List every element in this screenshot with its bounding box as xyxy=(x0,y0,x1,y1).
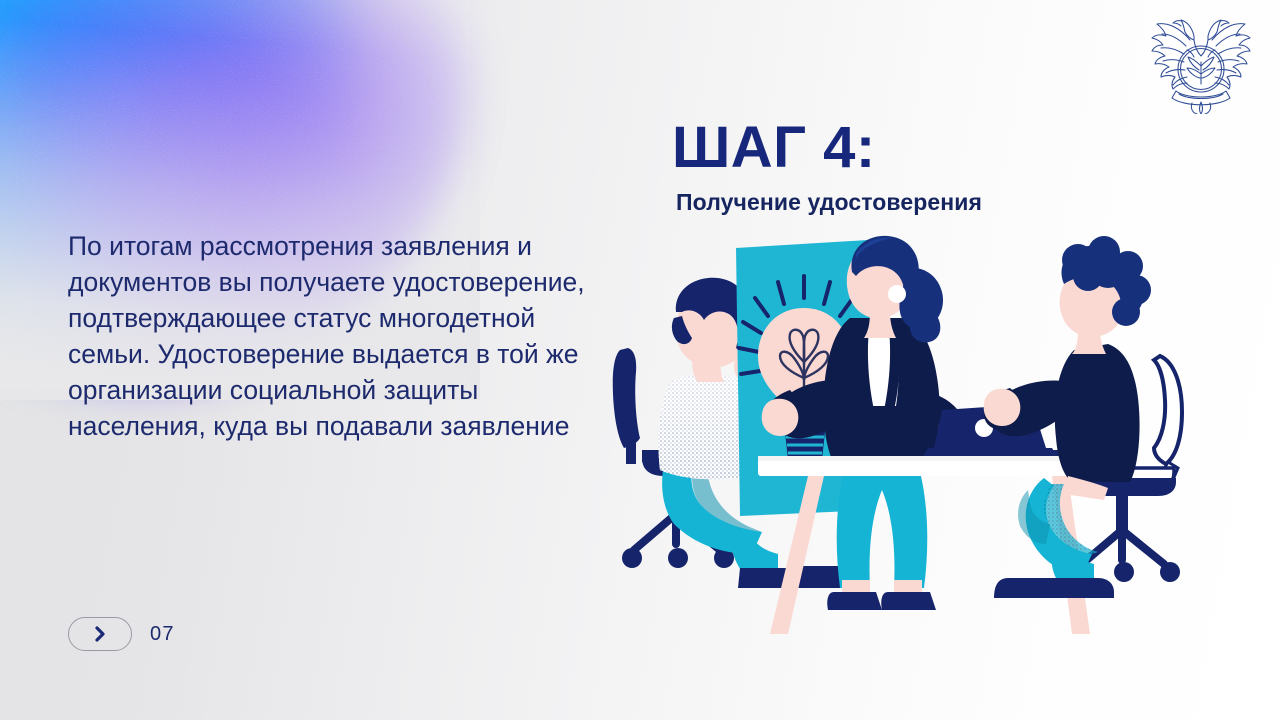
chevron-right-icon xyxy=(91,625,109,643)
team-meeting-illustration xyxy=(612,232,1212,644)
next-slide-button[interactable] xyxy=(68,617,132,651)
page-number: 07 xyxy=(150,623,175,646)
slide-canvas: ШАГ 4: Получение удостоверения По итогам… xyxy=(0,0,1280,720)
step-subtitle: Получение удостоверения xyxy=(676,189,1192,216)
double-headed-eagle-emblem-icon xyxy=(1146,6,1256,114)
heading-block: ШАГ 4: Получение удостоверения xyxy=(672,118,1192,216)
step-title: ШАГ 4: xyxy=(672,118,1192,177)
body-text: По итогам рассмотрения заявления и докум… xyxy=(68,228,608,444)
page-indicator: 07 xyxy=(68,617,175,651)
